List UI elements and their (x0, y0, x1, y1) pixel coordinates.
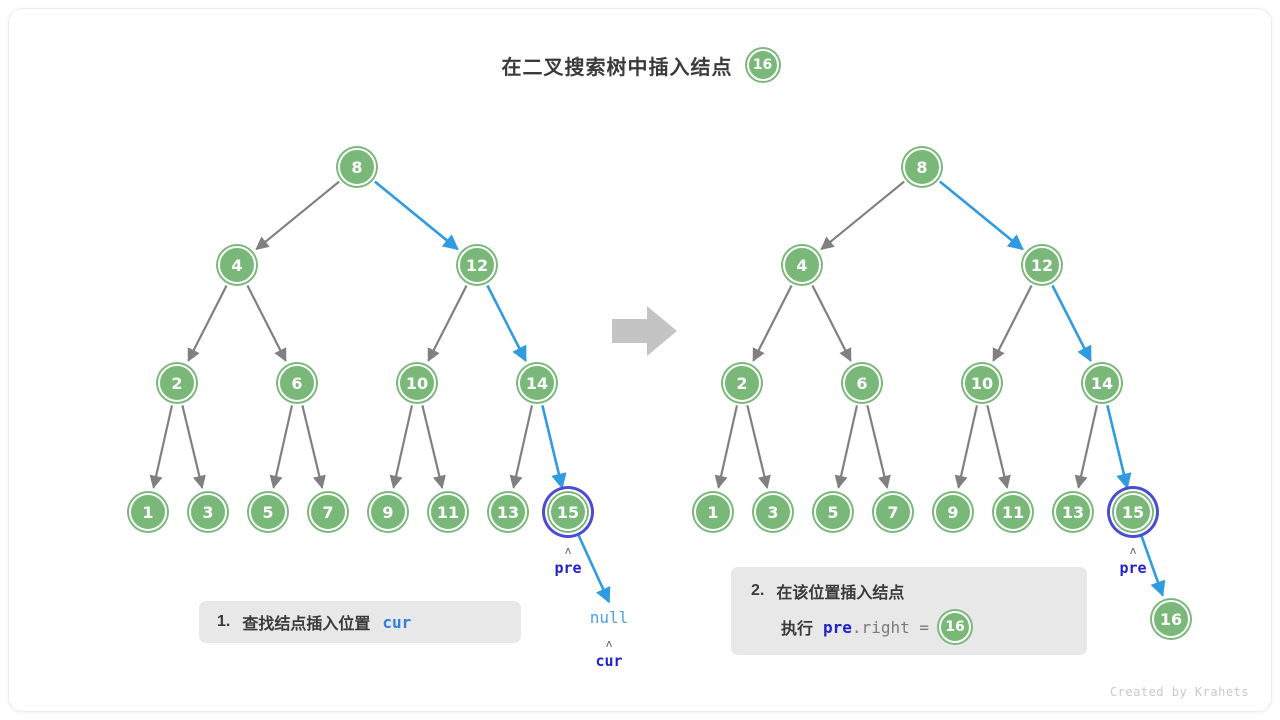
tree-node-6: 6 (843, 364, 881, 402)
tree-edge (513, 405, 531, 487)
caption-2-step: 2. (751, 582, 764, 600)
tree-node-7: 7 (874, 493, 912, 531)
tree-node-3: 3 (189, 493, 227, 531)
caption-2-field: .right = (852, 618, 929, 637)
tree-node-12: 12 (458, 246, 496, 284)
tree-edge (302, 405, 322, 487)
tree-edge (393, 405, 411, 487)
tree-node-2: 2 (723, 364, 761, 402)
caption-step-2: 2. 在该位置插入结点 执行 pre .right = 16 (731, 567, 1087, 655)
tree-edge (747, 405, 767, 487)
tree-edge (838, 405, 856, 487)
tree-edge (812, 286, 850, 361)
diagram-stage: 在二叉搜索树中插入结点 16 8412261014135791113158412… (9, 9, 1271, 711)
tree-node-9: 9 (369, 493, 407, 531)
tree-node-9: 9 (934, 493, 972, 531)
tree-edge (940, 182, 1023, 250)
tree-node-14: 14 (1083, 364, 1121, 402)
tree-edge (487, 286, 525, 361)
tree-node-10: 10 (963, 364, 1001, 402)
tree-edge (1107, 405, 1127, 487)
caption-2-pre: pre (823, 618, 852, 637)
pointer-caret-icon: ʌ (603, 638, 615, 649)
tree-edge (993, 286, 1031, 361)
tree-edge (718, 405, 736, 487)
tree-edge (375, 182, 458, 250)
caption-2-line2-prefix: 执行 (781, 615, 813, 639)
tree-edge (867, 405, 887, 487)
pre-pointer-right: pre (1093, 559, 1173, 577)
tree-edge (1078, 405, 1096, 487)
pointer-caret-icon: ʌ (562, 545, 574, 556)
tree-edge (753, 286, 791, 361)
tree-node-10: 10 (398, 364, 436, 402)
cur-pointer-left: cur (569, 652, 649, 670)
tree-node-4: 4 (783, 246, 821, 284)
tree-node-5: 5 (249, 493, 287, 531)
caption-step-1: 1. 查找结点插入位置 cur (199, 601, 521, 643)
tree-node-8: 8 (903, 148, 941, 186)
tree-edge (428, 286, 466, 361)
tree-edge (153, 405, 171, 487)
tree-edge (958, 405, 976, 487)
credit-text: Created by Krahets (1110, 685, 1249, 699)
tree-edge (256, 182, 339, 250)
tree-node-15: 15 (549, 493, 587, 531)
caption-1-text: 查找结点插入位置 (242, 610, 370, 634)
tree-node-13: 13 (1054, 493, 1092, 531)
tree-node-12: 12 (1023, 246, 1061, 284)
tree-edge (821, 182, 904, 250)
tree-node-4: 4 (218, 246, 256, 284)
tree-node-5: 5 (814, 493, 852, 531)
pre-pointer-left: pre (528, 559, 608, 577)
tree-edge (1052, 286, 1090, 361)
caption-2-value-badge: 16 (939, 611, 971, 643)
tree-edge (188, 286, 226, 361)
null-node-label: null (569, 608, 649, 627)
pointer-caret-icon: ʌ (1127, 545, 1139, 556)
diagram-card: 在二叉搜索树中插入结点 16 8412261014135791113158412… (8, 8, 1272, 712)
caption-2-line1: 在该位置插入结点 (776, 579, 904, 603)
tree-node-14: 14 (518, 364, 556, 402)
tree-node-2: 2 (158, 364, 196, 402)
tree-edge (422, 405, 442, 487)
tree-edge (182, 405, 202, 487)
tree-node-3: 3 (754, 493, 792, 531)
tree-node-6: 6 (278, 364, 316, 402)
tree-edge (987, 405, 1007, 487)
tree-edge (542, 405, 562, 487)
tree-node-15: 15 (1114, 493, 1152, 531)
tree-node-1: 1 (694, 493, 732, 531)
caption-1-pointer: cur (382, 613, 411, 632)
tree-node-8: 8 (338, 148, 376, 186)
tree-node-1: 1 (129, 493, 167, 531)
caption-1-step: 1. (217, 613, 230, 631)
tree-node-16: 16 (1152, 600, 1190, 638)
tree-node-13: 13 (489, 493, 527, 531)
arrow-right-icon (612, 306, 677, 356)
tree-node-7: 7 (309, 493, 347, 531)
tree-edge (247, 286, 285, 361)
tree-edge (273, 405, 291, 487)
tree-node-11: 11 (994, 493, 1032, 531)
tree-node-11: 11 (429, 493, 467, 531)
